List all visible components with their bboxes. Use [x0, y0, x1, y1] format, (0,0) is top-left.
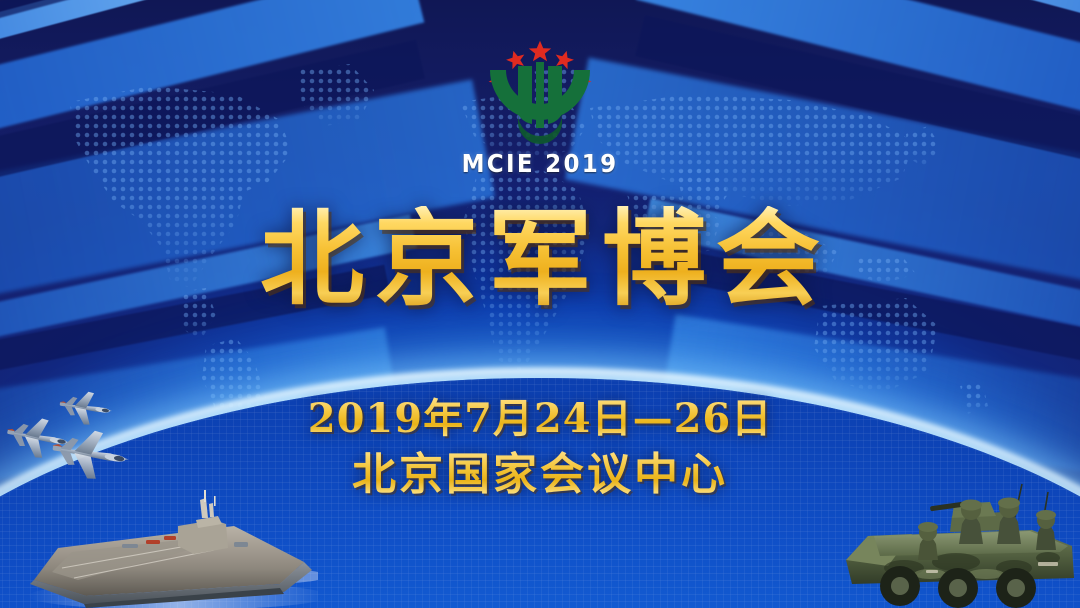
poster-canvas: MCIE 2019 北京军博会 2019年7月24日—26日 北京国家会议中心: [0, 0, 1080, 608]
logo-wordmark: MCIE 2019: [448, 149, 632, 178]
event-date: 2019年7月24日—26日: [0, 386, 1080, 444]
logo-bars: [518, 62, 562, 128]
event-venue: 北京国家会议中心: [0, 438, 1080, 502]
mcie-emblem-icon: [470, 18, 610, 153]
event-logo: MCIE 2019: [440, 18, 640, 178]
page-title: 北京军博会: [0, 206, 1080, 312]
